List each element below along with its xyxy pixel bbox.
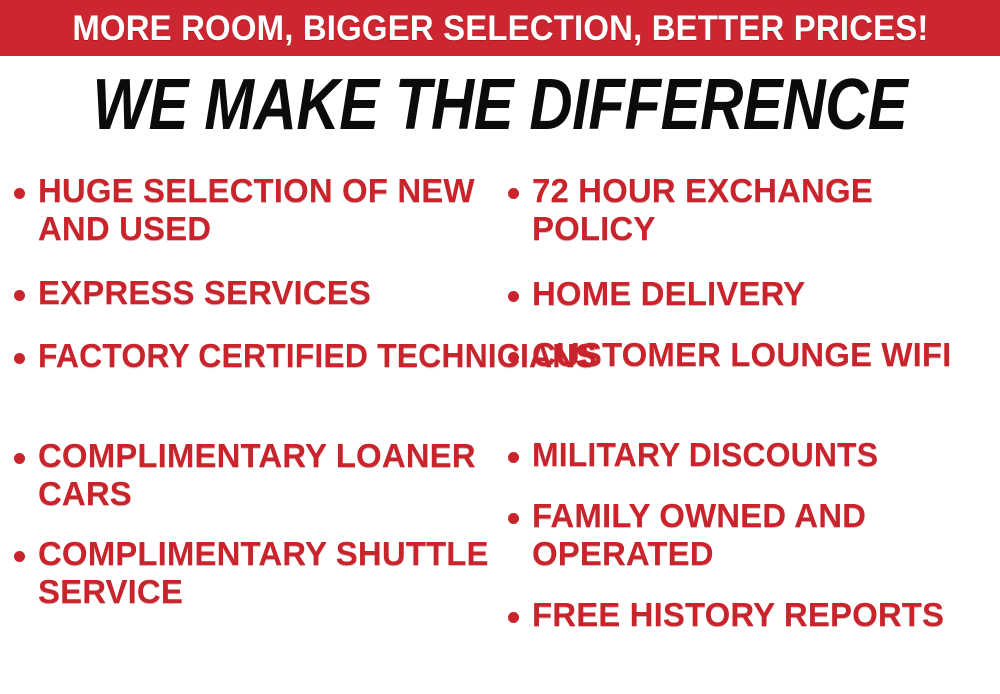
list-item-label: MILITARY DISCOUNTS	[532, 436, 986, 474]
page-title: WE MAKE THE DIFFERENCE	[93, 68, 908, 141]
list-item-label: FREE HISTORY REPORTS	[532, 596, 1000, 634]
top-banner: MORE ROOM, BIGGER SELECTION, BETTER PRIC…	[0, 0, 1000, 56]
list-item: HUGE SELECTION OF NEW AND USED	[14, 172, 498, 248]
list-item: CUSTOMER LOUNGE WIFI	[508, 336, 1000, 374]
list-item: COMPLIMENTARY LOANER CARS	[14, 437, 498, 513]
banner-headline: MORE ROOM, BIGGER SELECTION, BETTER PRIC…	[72, 11, 928, 46]
bullet-dot-icon	[14, 188, 25, 199]
list-item-label: HOME DELIVERY	[532, 275, 1000, 313]
list-item: FACTORY CERTIFIED TECHNICIANS	[14, 337, 498, 375]
bullet-dot-icon	[14, 290, 25, 301]
list-item-label: FAMILY OWNED AND OPERATED	[532, 497, 1000, 573]
benefits-columns: HUGE SELECTION OF NEW AND USED EXPRESS S…	[0, 158, 1000, 694]
bullet-dot-icon	[508, 513, 519, 524]
list-item: HOME DELIVERY	[508, 275, 1000, 313]
bullet-dot-icon	[508, 188, 519, 199]
list-item: EXPRESS SERVICES	[14, 274, 498, 312]
list-item-label: EXPRESS SERVICES	[38, 274, 498, 312]
bullet-dot-icon	[508, 612, 519, 623]
bullet-dot-icon	[14, 453, 25, 464]
bullet-dot-icon	[508, 452, 519, 463]
bullet-dot-icon	[14, 551, 25, 562]
list-item-label: HUGE SELECTION OF NEW AND USED	[38, 172, 498, 248]
list-item-label: COMPLIMENTARY LOANER CARS	[38, 437, 498, 513]
list-item: MILITARY DISCOUNTS	[508, 436, 1000, 474]
bullet-dot-icon	[14, 353, 25, 364]
list-item: COMPLIMENTARY SHUTTLE SERVICE	[14, 535, 498, 611]
list-item: FREE HISTORY REPORTS	[508, 596, 1000, 634]
list-item-label: CUSTOMER LOUNGE WIFI	[532, 336, 1000, 374]
list-item-label: 72 HOUR EXCHANGE POLICY	[532, 172, 1000, 248]
list-item: 72 HOUR EXCHANGE POLICY	[508, 172, 1000, 248]
headline-block: WE MAKE THE DIFFERENCE	[0, 68, 1000, 136]
list-item-label: COMPLIMENTARY SHUTTLE SERVICE	[38, 535, 498, 611]
bullet-dot-icon	[508, 352, 519, 363]
list-item: FAMILY OWNED AND OPERATED	[508, 497, 1000, 573]
bullet-dot-icon	[508, 291, 519, 302]
promotional-flyer: MORE ROOM, BIGGER SELECTION, BETTER PRIC…	[0, 0, 1000, 694]
